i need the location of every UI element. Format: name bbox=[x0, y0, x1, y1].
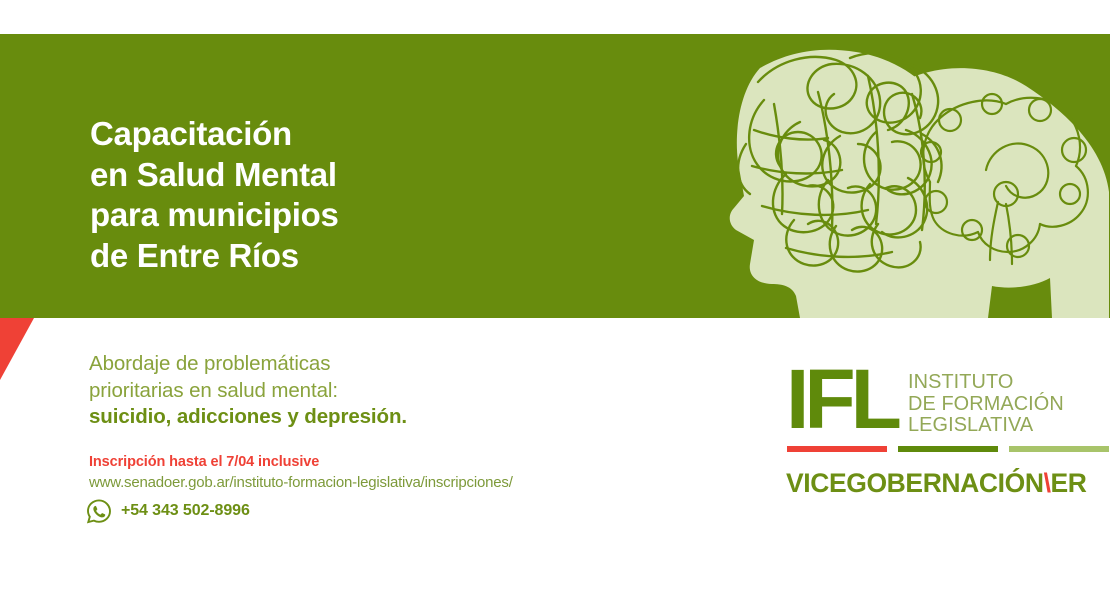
hero-illustration-panel bbox=[700, 34, 1110, 318]
headline-line-3: para municipios bbox=[90, 195, 650, 236]
ifl-logo-top-row: IFL INSTITUTO DE FORMACIÓN LEGISLATIVA bbox=[786, 366, 1110, 436]
ifl-name-line-1: INSTITUTO bbox=[908, 371, 1064, 393]
ifl-full-name: INSTITUTO DE FORMACIÓN LEGISLATIVA bbox=[908, 366, 1064, 436]
vicegobernacion-text: VICEGOBERNACIÓN bbox=[786, 468, 1044, 498]
enrollment-block: Inscripción hasta el 7/04 inclusive www.… bbox=[89, 452, 649, 494]
whatsapp-icon bbox=[86, 498, 112, 524]
whatsapp-contact[interactable]: +54 343 502-8996 bbox=[86, 498, 250, 524]
lead-line-1: Abordaje de problemáticas bbox=[89, 351, 609, 378]
ifl-name-line-2: DE FORMACIÓN bbox=[908, 393, 1064, 415]
bar-dark-green-icon bbox=[898, 446, 998, 452]
two-heads-illustration bbox=[700, 34, 1110, 318]
ifl-color-bars bbox=[786, 446, 1110, 452]
bar-light-green-icon bbox=[1009, 446, 1109, 452]
red-backslash-icon: \ bbox=[1044, 468, 1051, 498]
enrollment-url[interactable]: www.senadoer.gob.ar/instituto-formacion-… bbox=[89, 472, 649, 494]
headline-line-4: de Entre Ríos bbox=[90, 236, 650, 277]
lead-topics: suicidio, adicciones y depresión. bbox=[89, 404, 609, 431]
bar-red-icon bbox=[787, 446, 887, 452]
vicegobernacion-suffix: ER bbox=[1051, 468, 1087, 498]
headline-line-2: en Salud Mental bbox=[90, 155, 650, 196]
whatsapp-number: +54 343 502-8996 bbox=[121, 502, 250, 520]
red-corner-wedge bbox=[0, 318, 62, 380]
promo-banner: Capacitación en Salud Mental para munici… bbox=[0, 0, 1110, 590]
lead-line-2: prioritarias en salud mental: bbox=[89, 378, 609, 405]
headline: Capacitación en Salud Mental para munici… bbox=[90, 114, 650, 276]
body-copy: Abordaje de problemáticas prioritarias e… bbox=[89, 351, 609, 431]
enrollment-deadline: Inscripción hasta el 7/04 inclusive bbox=[89, 452, 649, 472]
ifl-monogram: IFL bbox=[786, 366, 897, 432]
headline-line-1: Capacitación bbox=[90, 114, 650, 155]
vicegobernacion-wordmark: VICEGOBERNACIÓN\ER bbox=[786, 468, 1110, 498]
ifl-name-line-3: LEGISLATIVA bbox=[908, 414, 1064, 436]
ifl-logo-lockup: IFL INSTITUTO DE FORMACIÓN LEGISLATIVA V… bbox=[786, 366, 1110, 498]
